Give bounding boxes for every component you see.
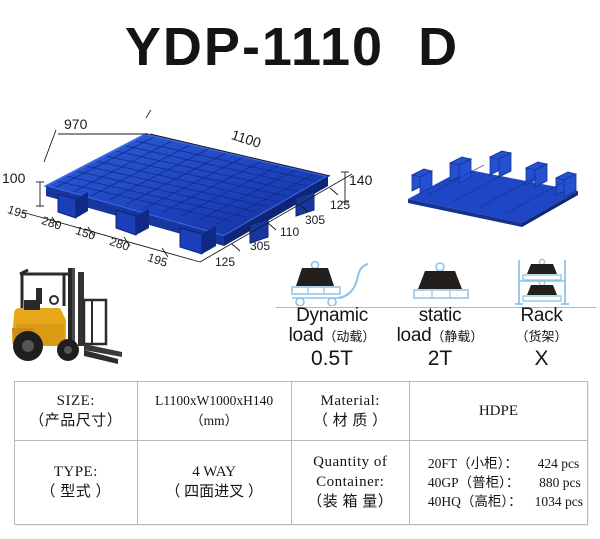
static-load-value: 2T: [386, 347, 494, 370]
dimension-label: 125: [215, 255, 235, 269]
static-load-label-cn-text: （静载）: [431, 329, 483, 344]
dynamic-load-icon: [276, 258, 388, 306]
static-load-label-en2: load: [397, 325, 432, 346]
quantity-code: 40HQ（高柜）：: [428, 494, 522, 509]
quantity-key-en2: Container:: [296, 472, 405, 492]
cell-type-key: TYPE: （ 型式 ）: [15, 440, 138, 525]
material-key-cn: （ 材 质 ）: [296, 411, 405, 431]
dimension-label: 110: [280, 225, 299, 239]
quantity-line: 40HQ（高柜）：1034 pcs: [414, 492, 583, 511]
static-load-label-cn: load（静载）: [386, 326, 494, 347]
dimension-label: 970: [64, 116, 87, 132]
rack-label-en: Rack: [489, 306, 594, 326]
load-capacity-section: Dynamic load（动载） 0.5T static load（静载） 2T: [276, 258, 596, 376]
rack-load-icon: [489, 258, 594, 306]
type-key-en: TYPE:: [19, 462, 133, 482]
quantity-key-cn: （装 箱 量）: [296, 492, 405, 512]
dynamic-load-label-cn-text: （动载）: [323, 329, 375, 344]
size-key-cn: （产品尺寸）: [19, 411, 133, 431]
cell-type-value: 4 WAY （ 四面进叉 ）: [137, 440, 291, 525]
specification-table: SIZE: （产品尺寸） L1100xW1000xH140（mm） Materi…: [14, 381, 588, 525]
load-item-rack: Rack （货架） X: [489, 258, 594, 370]
quantity-number: 1034: [522, 492, 562, 511]
type-value-cn: （ 四面进叉 ）: [142, 482, 287, 502]
dimension-label: 305: [305, 213, 325, 227]
dimension-label: 125: [330, 198, 350, 212]
quantity-unit: pcs: [562, 494, 583, 509]
dynamic-load-label-cn: load（动载）: [276, 326, 388, 347]
dimension-label: 305: [250, 239, 270, 253]
dynamic-load-label-en: Dynamic: [276, 306, 388, 326]
type-value-en: 4 WAY: [142, 462, 287, 482]
quantity-code: 40GP（普柜）：: [428, 475, 520, 490]
forklift-photo: [6, 258, 126, 376]
static-load-icon: [386, 258, 494, 306]
dynamic-load-value: 0.5T: [276, 347, 388, 370]
static-load-label-en: static: [386, 306, 494, 326]
quantity-code: 20FT（小柜）：: [428, 456, 518, 471]
cell-quantity-value: 20FT（小柜）：424 pcs40GP（普柜）：880 pcs40HQ（高柜）…: [409, 440, 587, 525]
quantity-number: 880: [519, 473, 559, 492]
dynamic-load-label-en2: load: [289, 325, 324, 346]
quantity-line: 20FT（小柜）：424 pcs: [414, 454, 583, 473]
cell-material-value: HDPE: [409, 382, 587, 441]
quantity-unit: pcs: [559, 475, 580, 490]
dimension-label: 100: [2, 170, 25, 186]
quantity-list: 20FT（小柜）：424 pcs40GP（普柜）：880 pcs40HQ（高柜）…: [414, 454, 583, 511]
quantity-unit: pcs: [558, 456, 579, 471]
type-key-cn: （ 型式 ）: [19, 482, 133, 502]
page-title: YDP-1110 D: [0, 16, 600, 78]
cell-quantity-key: Quantity of Container: （装 箱 量）: [291, 440, 409, 525]
table-row: TYPE: （ 型式 ） 4 WAY （ 四面进叉 ） Quantity of …: [15, 440, 588, 525]
pallet-underside-illustration: [398, 135, 588, 230]
size-value: L1100xW1000xH140（mm）: [142, 391, 287, 431]
pallet-main-illustration: [28, 128, 338, 263]
load-item-dynamic: Dynamic load（动载） 0.5T: [276, 258, 388, 370]
quantity-key-en1: Quantity of: [296, 452, 405, 472]
rack-label-cn: （货架）: [489, 326, 594, 347]
size-key-en: SIZE:: [19, 391, 133, 411]
material-key-en: Material:: [296, 391, 405, 411]
table-row: SIZE: （产品尺寸） L1100xW1000xH140（mm） Materi…: [15, 382, 588, 441]
material-value: HDPE: [414, 401, 583, 421]
quantity-line: 40GP（普柜）：880 pcs: [414, 473, 583, 492]
dimension-label: 140: [349, 172, 372, 188]
cell-size-value: L1100xW1000xH140（mm）: [137, 382, 291, 441]
cell-size-key: SIZE: （产品尺寸）: [15, 382, 138, 441]
rack-label-cn-text: （货架）: [515, 329, 567, 344]
rack-value: X: [489, 347, 594, 370]
quantity-number: 424: [518, 454, 558, 473]
load-item-static: static load（静载） 2T: [386, 258, 494, 370]
dimension-label: 195: [6, 202, 29, 222]
pallet-diagram: 9701100100140195280150280195125305110305…: [0, 110, 600, 270]
cell-material-key: Material: （ 材 质 ）: [291, 382, 409, 441]
